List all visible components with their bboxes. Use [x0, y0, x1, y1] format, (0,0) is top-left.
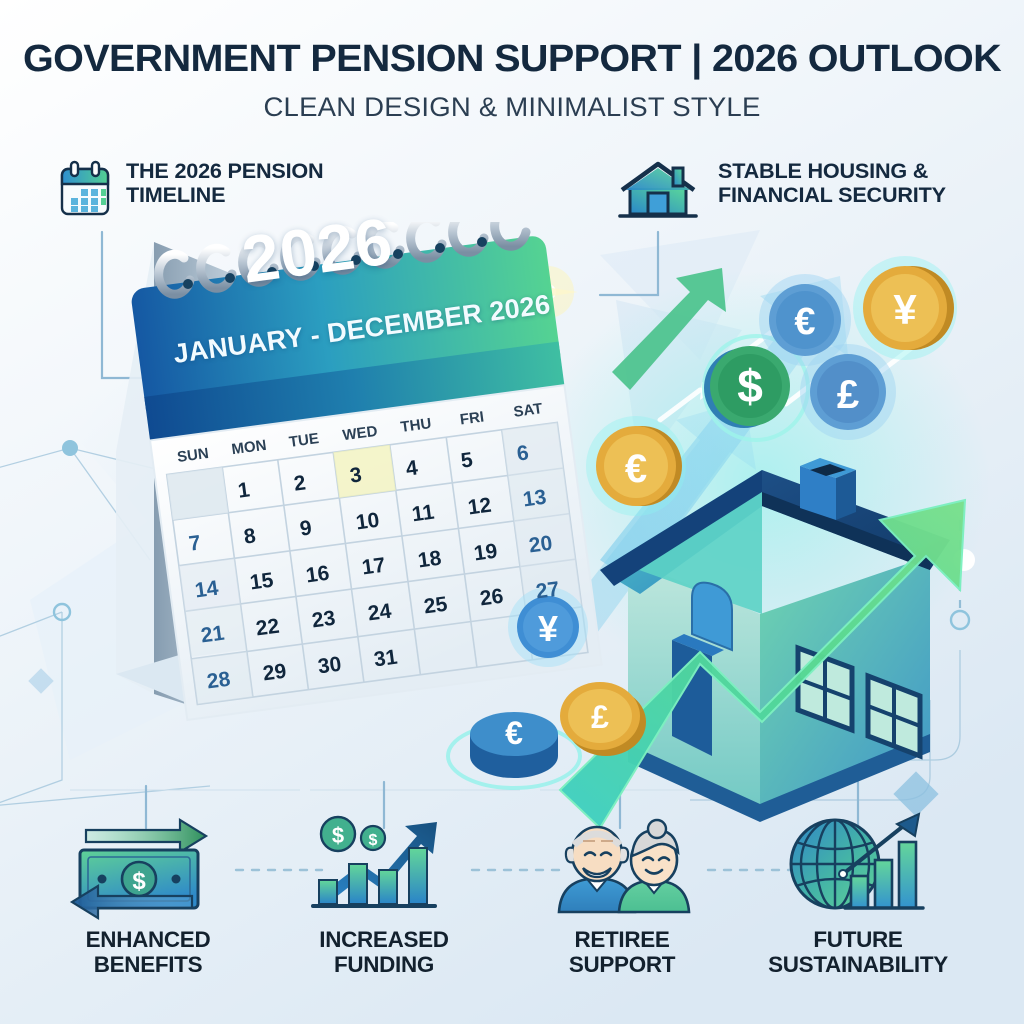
feature-3-line2: SUSTAINABILITY [746, 953, 970, 978]
feature-future-sustainability[interactable]: FUTURE SUSTAINABILITY [748, 812, 968, 977]
desk-calendar[interactable]: 2026 JANUARY - DECEMBER 2026 SUNMONTUEWE… [92, 222, 612, 722]
feature-1-line2: FUNDING [272, 953, 496, 978]
bar-chart-growth-icon: $ $ [274, 812, 494, 920]
feature-retiree-support[interactable]: RETIREE SUPPORT [512, 812, 732, 977]
yen-badge-icon: ¥ [505, 584, 591, 670]
coin-yen-gold: ¥ [853, 256, 957, 360]
feature-enhanced-benefits[interactable]: $ ENHANCED BENEFITS [38, 812, 258, 977]
coin-pound-blue: £ [800, 344, 896, 440]
svg-text:$: $ [332, 823, 344, 848]
feature-0-line1: ENHANCED [36, 928, 260, 953]
feature-2-line2: SUPPORT [510, 953, 734, 978]
globe-growth-icon [748, 812, 968, 920]
coin-euro-stack: € [448, 712, 580, 788]
feature-1-line1: INCREASED [272, 928, 496, 953]
highlighted-day-cell [333, 445, 396, 498]
svg-text:$: $ [369, 832, 378, 849]
svg-text:$: $ [132, 868, 146, 895]
infographic-canvas: GOVERNMENT PENSION SUPPORT | 2026 OUTLOO… [0, 0, 1024, 1024]
feature-increased-funding[interactable]: $ $ INCREASED FUNDING [274, 812, 494, 977]
svg-text:€: € [625, 447, 647, 491]
svg-text:¥: ¥ [538, 608, 558, 649]
elderly-couple-icon [512, 812, 732, 920]
svg-text:$: $ [737, 360, 763, 412]
feature-0-line2: BENEFITS [36, 953, 260, 978]
banknote-exchange-icon: $ [38, 812, 258, 920]
feature-3-line1: FUTURE [746, 928, 970, 953]
svg-text:£: £ [837, 373, 859, 417]
feature-2-line1: RETIREE [510, 928, 734, 953]
svg-text:¥: ¥ [893, 286, 917, 333]
svg-text:€: € [794, 301, 815, 343]
